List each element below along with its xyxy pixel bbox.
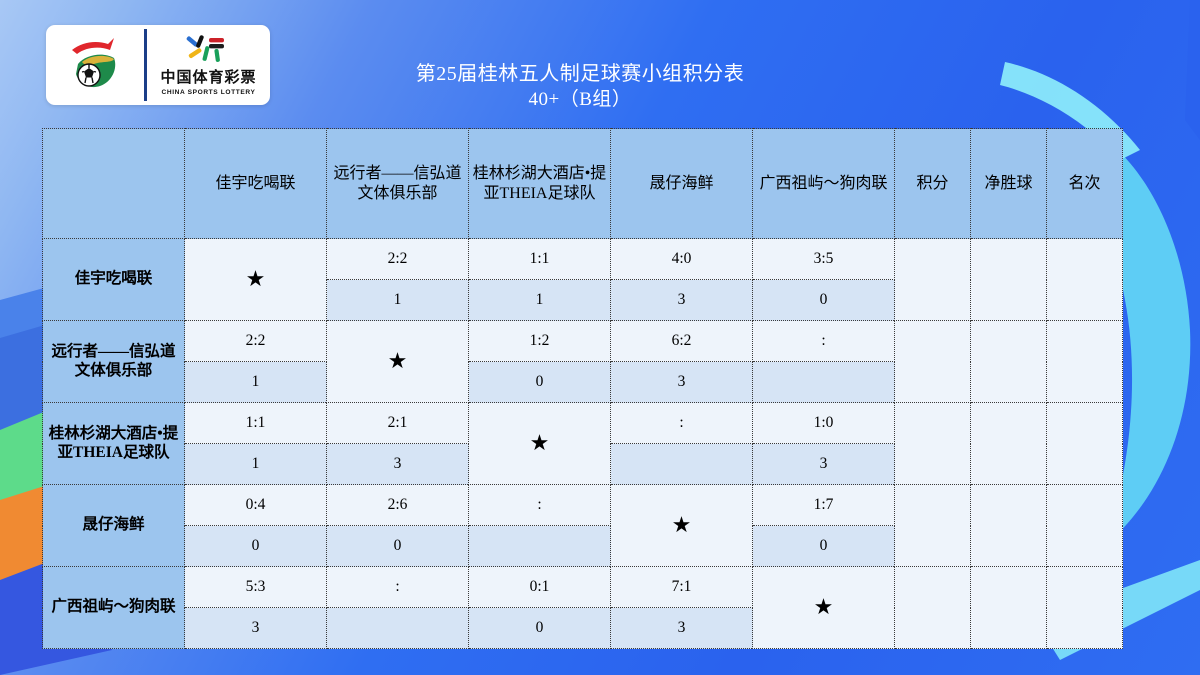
- self-cell-star-icon: ★: [611, 485, 753, 567]
- match-points-cell: [611, 444, 753, 485]
- self-cell-star-icon: ★: [327, 321, 469, 403]
- cfa-football-logo-icon: [46, 34, 144, 96]
- row-total-points: [895, 403, 971, 485]
- table-header-row: 佳宇吃喝联远行者——信弘道文体俱乐部桂林杉湖大酒店•提亚THEIA足球队晟仔海鲜…: [43, 129, 1123, 239]
- lottery-name-cn: 中国体育彩票: [160, 66, 256, 87]
- row-rank: [1047, 403, 1123, 485]
- table-row: 广西祖屿～狗肉联5:3:0:17:1★: [43, 567, 1123, 608]
- row-total-points: [895, 321, 971, 403]
- table-row: 晟仔海鲜0:42:6:★1:7: [43, 485, 1123, 526]
- row-goal-difference: [971, 321, 1047, 403]
- sponsor-logo-card: 中国体育彩票 CHINA SPORTS LOTTERY: [46, 25, 270, 105]
- match-score-cell: 6:2: [611, 321, 753, 362]
- match-points-cell: 0: [469, 362, 611, 403]
- match-points-cell: 3: [327, 444, 469, 485]
- row-total-points: [895, 567, 971, 649]
- row-team-name: 晟仔海鲜: [43, 485, 185, 567]
- row-goal-difference: [971, 239, 1047, 321]
- match-score-cell: 3:5: [753, 239, 895, 280]
- match-points-cell: 0: [753, 280, 895, 321]
- match-points-cell: 3: [611, 280, 753, 321]
- match-score-cell: 0:4: [185, 485, 327, 526]
- match-points-cell: 1: [327, 280, 469, 321]
- row-rank: [1047, 321, 1123, 403]
- table-row: 桂林杉湖大酒店•提亚THEIA足球队1:12:1★:1:0: [43, 403, 1123, 444]
- column-header-7: 名次: [1047, 129, 1123, 239]
- title-main: 第25届桂林五人制足球赛小组积分表: [300, 62, 860, 88]
- match-points-cell: 0: [327, 526, 469, 567]
- match-score-cell: 2:2: [185, 321, 327, 362]
- row-team-name: 广西祖屿～狗肉联: [43, 567, 185, 649]
- row-team-name: 远行者——信弘道文体俱乐部: [43, 321, 185, 403]
- column-header-2: 桂林杉湖大酒店•提亚THEIA足球队: [469, 129, 611, 239]
- match-points-cell: 1: [185, 444, 327, 485]
- match-score-cell: 2:2: [327, 239, 469, 280]
- match-score-cell: 2:1: [327, 403, 469, 444]
- column-header-6: 净胜球: [971, 129, 1047, 239]
- row-team-name: 桂林杉湖大酒店•提亚THEIA足球队: [43, 403, 185, 485]
- match-score-cell: 1:1: [469, 239, 611, 280]
- match-score-cell: :: [469, 485, 611, 526]
- match-score-cell: :: [753, 321, 895, 362]
- match-score-cell: 1:1: [185, 403, 327, 444]
- title-sub: 40+（B组）: [300, 88, 860, 112]
- row-total-points: [895, 485, 971, 567]
- match-points-cell: [327, 608, 469, 649]
- match-points-cell: 0: [469, 608, 611, 649]
- match-score-cell: 5:3: [185, 567, 327, 608]
- row-goal-difference: [971, 403, 1047, 485]
- match-score-cell: 1:2: [469, 321, 611, 362]
- match-score-cell: 2:6: [327, 485, 469, 526]
- match-points-cell: 0: [185, 526, 327, 567]
- table-row: 佳宇吃喝联★2:21:14:03:5: [43, 239, 1123, 280]
- column-header-4: 广西祖屿～狗肉联: [753, 129, 895, 239]
- row-goal-difference: [971, 567, 1047, 649]
- match-points-cell: 1: [469, 280, 611, 321]
- row-team-name: 佳宇吃喝联: [43, 239, 185, 321]
- match-points-cell: 3: [753, 444, 895, 485]
- match-points-cell: [469, 526, 611, 567]
- match-score-cell: 4:0: [611, 239, 753, 280]
- table-head: 佳宇吃喝联远行者——信弘道文体俱乐部桂林杉湖大酒店•提亚THEIA足球队晟仔海鲜…: [43, 129, 1123, 239]
- header-corner: [43, 129, 185, 239]
- match-score-cell: 1:0: [753, 403, 895, 444]
- self-cell-star-icon: ★: [185, 239, 327, 321]
- match-points-cell: [753, 362, 895, 403]
- lottery-name-en: CHINA SPORTS LOTTERY: [162, 89, 256, 96]
- match-score-cell: 0:1: [469, 567, 611, 608]
- match-points-cell: 3: [611, 608, 753, 649]
- self-cell-star-icon: ★: [469, 403, 611, 485]
- match-points-cell: 0: [753, 526, 895, 567]
- standings-table-container: 佳宇吃喝联远行者——信弘道文体俱乐部桂林杉湖大酒店•提亚THEIA足球队晟仔海鲜…: [42, 128, 1106, 649]
- match-points-cell: 3: [611, 362, 753, 403]
- column-header-0: 佳宇吃喝联: [185, 129, 327, 239]
- table-body: 佳宇吃喝联★2:21:14:03:51130远行者——信弘道文体俱乐部2:2★1…: [43, 239, 1123, 649]
- page-title: 第25届桂林五人制足球赛小组积分表 40+（B组）: [300, 62, 860, 112]
- match-score-cell: :: [611, 403, 753, 444]
- row-goal-difference: [971, 485, 1047, 567]
- row-rank: [1047, 485, 1123, 567]
- self-cell-star-icon: ★: [753, 567, 895, 649]
- row-rank: [1047, 567, 1123, 649]
- match-points-cell: 1: [185, 362, 327, 403]
- column-header-5: 积分: [895, 129, 971, 239]
- match-score-cell: :: [327, 567, 469, 608]
- table-row: 远行者——信弘道文体俱乐部2:2★1:26:2:: [43, 321, 1123, 362]
- china-sports-lottery-icon: 中国体育彩票 CHINA SPORTS LOTTERY: [147, 34, 270, 96]
- match-points-cell: 3: [185, 608, 327, 649]
- row-rank: [1047, 239, 1123, 321]
- column-header-1: 远行者——信弘道文体俱乐部: [327, 129, 469, 239]
- standings-table: 佳宇吃喝联远行者——信弘道文体俱乐部桂林杉湖大酒店•提亚THEIA足球队晟仔海鲜…: [42, 128, 1123, 649]
- match-score-cell: 1:7: [753, 485, 895, 526]
- deco-edge-right: [1185, 0, 1200, 140]
- row-total-points: [895, 239, 971, 321]
- match-score-cell: 7:1: [611, 567, 753, 608]
- column-header-3: 晟仔海鲜: [611, 129, 753, 239]
